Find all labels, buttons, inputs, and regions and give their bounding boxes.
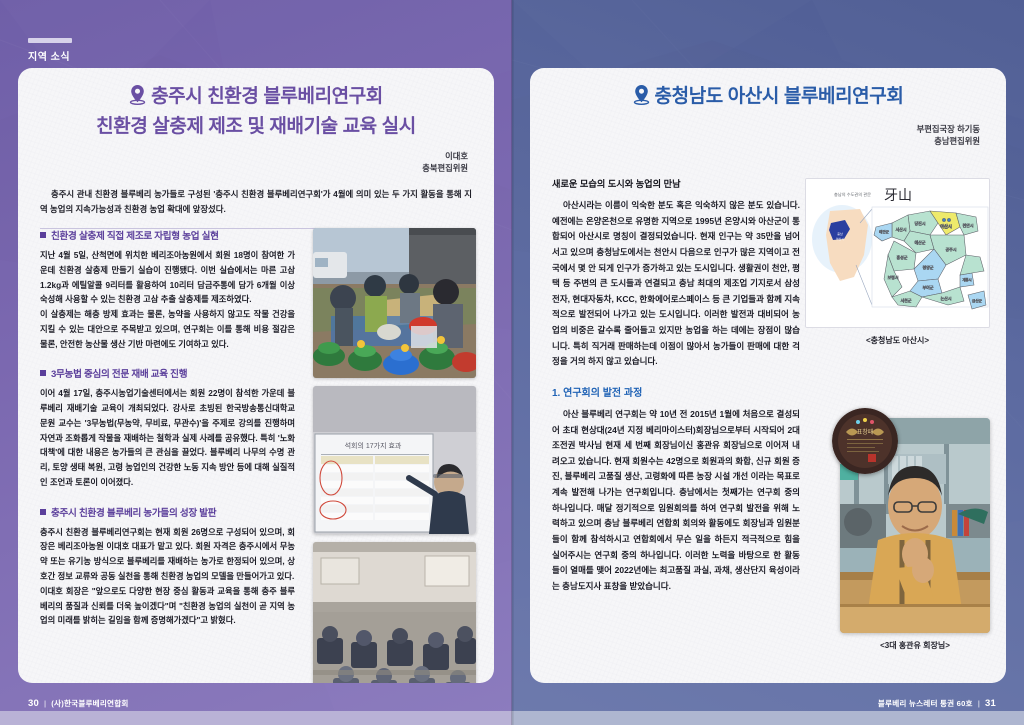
location-pin-icon <box>129 84 146 114</box>
left-article-body: 친환경 살충제 직접 제조로 자립형 농업 실현 지난 4월 5일, 산척면에 … <box>40 228 295 628</box>
right-title-line-1: 충청남도 아산시 블루베리연구회 <box>530 84 1006 114</box>
left-section-2-body: 이어 4월 17일, 충주시농업기술센터에서는 회원 22명이 참석한 가운데 … <box>40 386 295 489</box>
svg-text:홍성군: 홍성군 <box>896 254 907 260</box>
right-title-block: 충청남도 아산시 블루베리연구회 <box>530 68 1006 114</box>
svg-text:보령시: 보령시 <box>887 274 898 280</box>
paragraph: 이어 4월 17일, 충주시농업기술센터에서는 회원 22명이 참석한 가운데 … <box>40 386 295 489</box>
square-bullet-icon <box>40 509 46 515</box>
photo-lecture-presentation: 석회의 17가지 효과 <box>313 386 476 534</box>
right-footer-org: 블루베리 뉴스레터 통권 60호 <box>878 699 973 708</box>
photo-pesticide-making <box>313 228 476 378</box>
paragraph: 지난 4월 5일, 산척면에 위치한 베리조아농원에서 회원 18명이 참여한 … <box>40 248 295 307</box>
left-title-block: 충주시 친환경 블루베리연구회 친환경 살충제 제조 및 재배기술 교육 실시 <box>18 68 494 141</box>
portrait-caption: <3대 홍관유 회장님> <box>840 640 990 651</box>
svg-text:부여군: 부여군 <box>922 284 933 290</box>
left-section-1: 친환경 살충제 직접 제조로 자립형 농업 실현 지난 4월 5일, 산척면에 … <box>40 228 295 351</box>
svg-text:공주시: 공주시 <box>945 247 956 252</box>
svg-text:천안시: 천안시 <box>962 222 973 228</box>
left-footer-org: (사)한국블루베리연합회 <box>51 699 128 708</box>
left-title-line-2: 친환경 살충제 제조 및 재배기술 교육 실시 <box>18 114 494 141</box>
magazine-spread: 지역 소식 충주시 친환경 블루베리연구회 친환경 살 <box>0 0 1024 725</box>
left-section-2-heading-text: 3무농법 중심의 전문 재배 교육 진행 <box>51 366 187 380</box>
right-page: 충청남도 아산시 블루베리연구회 부편집국장 하기동 충남편집위원 새로운 모습… <box>512 0 1024 725</box>
left-title-line-1: 충주시 친환경 블루베리연구회 <box>18 84 494 114</box>
map-inset-label: 충남의 수도권의 관문 <box>834 191 871 198</box>
right-content-card: 충청남도 아산시 블루베리연구회 부편집국장 하기동 충남편집위원 새로운 모습… <box>530 68 1006 683</box>
svg-text:아산시: 아산시 <box>836 236 845 241</box>
left-section-1-body: 지난 4월 5일, 산척면에 위치한 베리조아농원에서 회원 18명이 참여한 … <box>40 248 295 351</box>
map-caption: <충청남도 아산시> <box>805 335 990 346</box>
left-title-text-1: 충주시 친환경 블루베리연구회 <box>151 86 383 107</box>
left-lead-paragraph: 충주시 관내 친환경 블루베리 농가들로 구성된 '충주시 친환경 블루베리연구… <box>40 187 472 218</box>
left-section-3-body: 충주시 친환경 블루베리연구회는 현재 회원 26명으로 구성되어 있으며, 회… <box>40 525 295 628</box>
right-page-number: 31 <box>985 698 996 709</box>
map-figure: 충남 아산시 충남의 수도권의 관문 牙山 당진시 <box>805 178 990 346</box>
right-byline: 부편집국장 하기동 충남편집위원 <box>530 114 1006 148</box>
right-byline-role: 충남편집위원 <box>530 135 980 147</box>
svg-text:계룡시: 계룡시 <box>962 277 971 282</box>
footer-divider: | <box>978 699 980 708</box>
map-hanja-label: 牙山 <box>884 188 912 204</box>
left-section-2: 3무농법 중심의 전문 재배 교육 진행 이어 4월 17일, 충주시농업기술센… <box>40 366 295 489</box>
right-intro-paragraph: 아산시라는 이름이 익숙한 분도 혹은 익숙하지 않은 분도 있습니다. 예전에… <box>552 198 800 370</box>
svg-text:석회의 17가지 효과: 석회의 17가지 효과 <box>345 441 402 450</box>
paragraph: 충주시 친환경 블루베리연구회는 현재 회원 26명으로 구성되어 있으며, 회… <box>40 525 295 584</box>
left-section-3: 충주시 친환경 블루베리 농가들의 성장 발판 충주시 친환경 블루베리연구회는… <box>40 505 295 628</box>
svg-text:논산시: 논산시 <box>940 295 951 301</box>
spread-spine <box>511 0 514 725</box>
svg-text:충남: 충남 <box>837 231 843 236</box>
svg-text:금산군: 금산군 <box>972 298 983 303</box>
left-byline: 이대호 충북편집위원 <box>18 141 494 175</box>
section-tab-bar <box>28 38 72 43</box>
paragraph: 이대호 회장은 "앞으로도 다양한 현장 중심 활동과 교육을 통해 충주 블루… <box>40 584 295 628</box>
right-footer: 블루베리 뉴스레터 통권 60호|31 <box>878 698 996 709</box>
right-section-heading: 1. 연구회의 발전 과정 <box>552 384 800 399</box>
left-section-2-heading: 3무농법 중심의 전문 재배 교육 진행 <box>40 366 295 380</box>
section-tab: 지역 소식 <box>28 38 72 63</box>
svg-text:예산군: 예산군 <box>914 239 925 245</box>
svg-text:아산시: 아산시 <box>940 223 952 230</box>
photo-classroom-audience <box>313 542 476 683</box>
portrait-figure: 표창패 <box>840 418 990 651</box>
left-section-1-heading: 친환경 살충제 직접 제조로 자립형 농업 실현 <box>40 228 295 242</box>
left-photo-column: 석회의 17가지 효과 <box>313 228 476 683</box>
map-image: 충남 아산시 충남의 수도권의 관문 牙山 당진시 <box>805 178 990 328</box>
left-page: 지역 소식 충주시 친환경 블루베리연구회 친환경 살 <box>0 0 512 725</box>
section-tab-label: 지역 소식 <box>28 48 72 63</box>
right-footer-bar <box>512 711 1024 725</box>
square-bullet-icon <box>40 232 46 238</box>
right-article-body: 새로운 모습의 도시와 농업의 만남 아산시라는 이름이 익숙한 분도 혹은 익… <box>552 176 800 594</box>
right-subhead: 새로운 모습의 도시와 농업의 만남 <box>552 176 800 190</box>
svg-text:서산시: 서산시 <box>895 226 906 232</box>
svg-text:서천군: 서천군 <box>900 297 911 303</box>
left-footer-bar <box>0 711 512 725</box>
award-plaque-icon: 표창패 <box>832 408 898 474</box>
left-section-3-heading-text: 충주시 친환경 블루베리 농가들의 성장 발판 <box>51 505 216 519</box>
left-content-card: 충주시 친환경 블루베리연구회 친환경 살충제 제조 및 재배기술 교육 실시 … <box>18 68 494 683</box>
right-byline-name: 부편집국장 하기동 <box>530 123 980 135</box>
svg-text:표창패: 표창패 <box>857 428 874 436</box>
svg-text:당진시: 당진시 <box>914 220 925 226</box>
paragraph: 이 살충제는 해충 방제 효과는 물론, 농약을 사용하지 않고도 작물 건강을… <box>40 307 295 351</box>
left-section-3-heading: 충주시 친환경 블루베리 농가들의 성장 발판 <box>40 505 295 519</box>
left-page-number: 30 <box>28 698 39 709</box>
left-section-1-heading-text: 친환경 살충제 직접 제조로 자립형 농업 실현 <box>51 228 219 242</box>
right-section-body: 아산 블루베리 연구회는 약 10년 전 2015년 1월에 처음으로 결성되어… <box>552 407 800 595</box>
square-bullet-icon <box>40 370 46 376</box>
footer-divider: | <box>44 699 46 708</box>
svg-text:태안군: 태안군 <box>879 229 890 234</box>
location-pin-icon <box>633 84 650 114</box>
right-title-text-1: 충청남도 아산시 블루베리연구회 <box>655 86 904 107</box>
left-footer: 30|(사)한국블루베리연합회 <box>28 698 129 709</box>
left-byline-role: 충북편집위원 <box>18 162 468 174</box>
left-byline-name: 이대호 <box>18 150 468 162</box>
svg-text:청양군: 청양군 <box>922 264 933 270</box>
